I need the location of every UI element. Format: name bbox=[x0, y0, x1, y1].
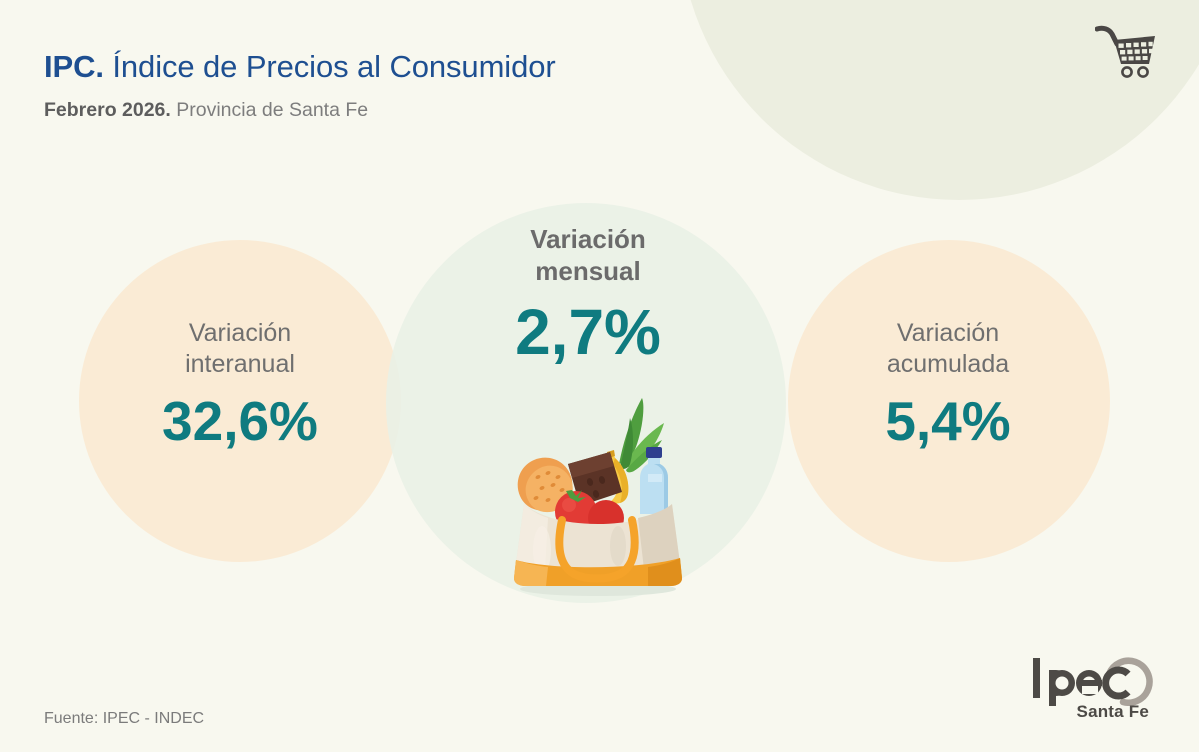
infographic-canvas: IPC. Índice de Precios al Consumidor Feb… bbox=[0, 0, 1199, 752]
stat-interanual: Variación interanual 32,6% bbox=[75, 318, 405, 451]
subtitle-period: Febrero 2026. bbox=[44, 99, 171, 121]
stat-mensual-label: Variación mensual bbox=[423, 224, 753, 287]
stat-mensual: Variación mensual 2,7% bbox=[423, 224, 753, 367]
stat-acumulada-value: 5,4% bbox=[783, 393, 1113, 451]
ipec-logo-mark bbox=[1027, 652, 1155, 706]
shopping-cart-icon bbox=[1095, 24, 1157, 80]
source-note: Fuente: IPEC - INDEC bbox=[44, 710, 204, 728]
page-title-text: Índice de Precios al Consumidor bbox=[112, 49, 555, 84]
stat-mensual-value: 2,7% bbox=[423, 299, 753, 366]
stat-acumulada: Variación acumulada 5,4% bbox=[783, 318, 1113, 451]
page-subtitle: Febrero 2026. Provincia de Santa Fe bbox=[44, 100, 556, 121]
subtitle-region: Provincia de Santa Fe bbox=[176, 99, 368, 121]
ipec-logo: Santa Fe bbox=[1027, 652, 1155, 730]
stat-interanual-label: Variación interanual bbox=[75, 318, 405, 379]
page-title: IPC. Índice de Precios al Consumidor bbox=[44, 50, 556, 84]
stat-interanual-value: 32,6% bbox=[75, 393, 405, 451]
ipec-logo-subtitle: Santa Fe bbox=[1027, 702, 1149, 722]
stat-acumulada-label: Variación acumulada bbox=[783, 318, 1113, 379]
grocery-bag-illustration bbox=[498, 378, 698, 603]
page-title-acronym: IPC. bbox=[44, 49, 104, 84]
header: IPC. Índice de Precios al Consumidor Feb… bbox=[44, 50, 556, 122]
